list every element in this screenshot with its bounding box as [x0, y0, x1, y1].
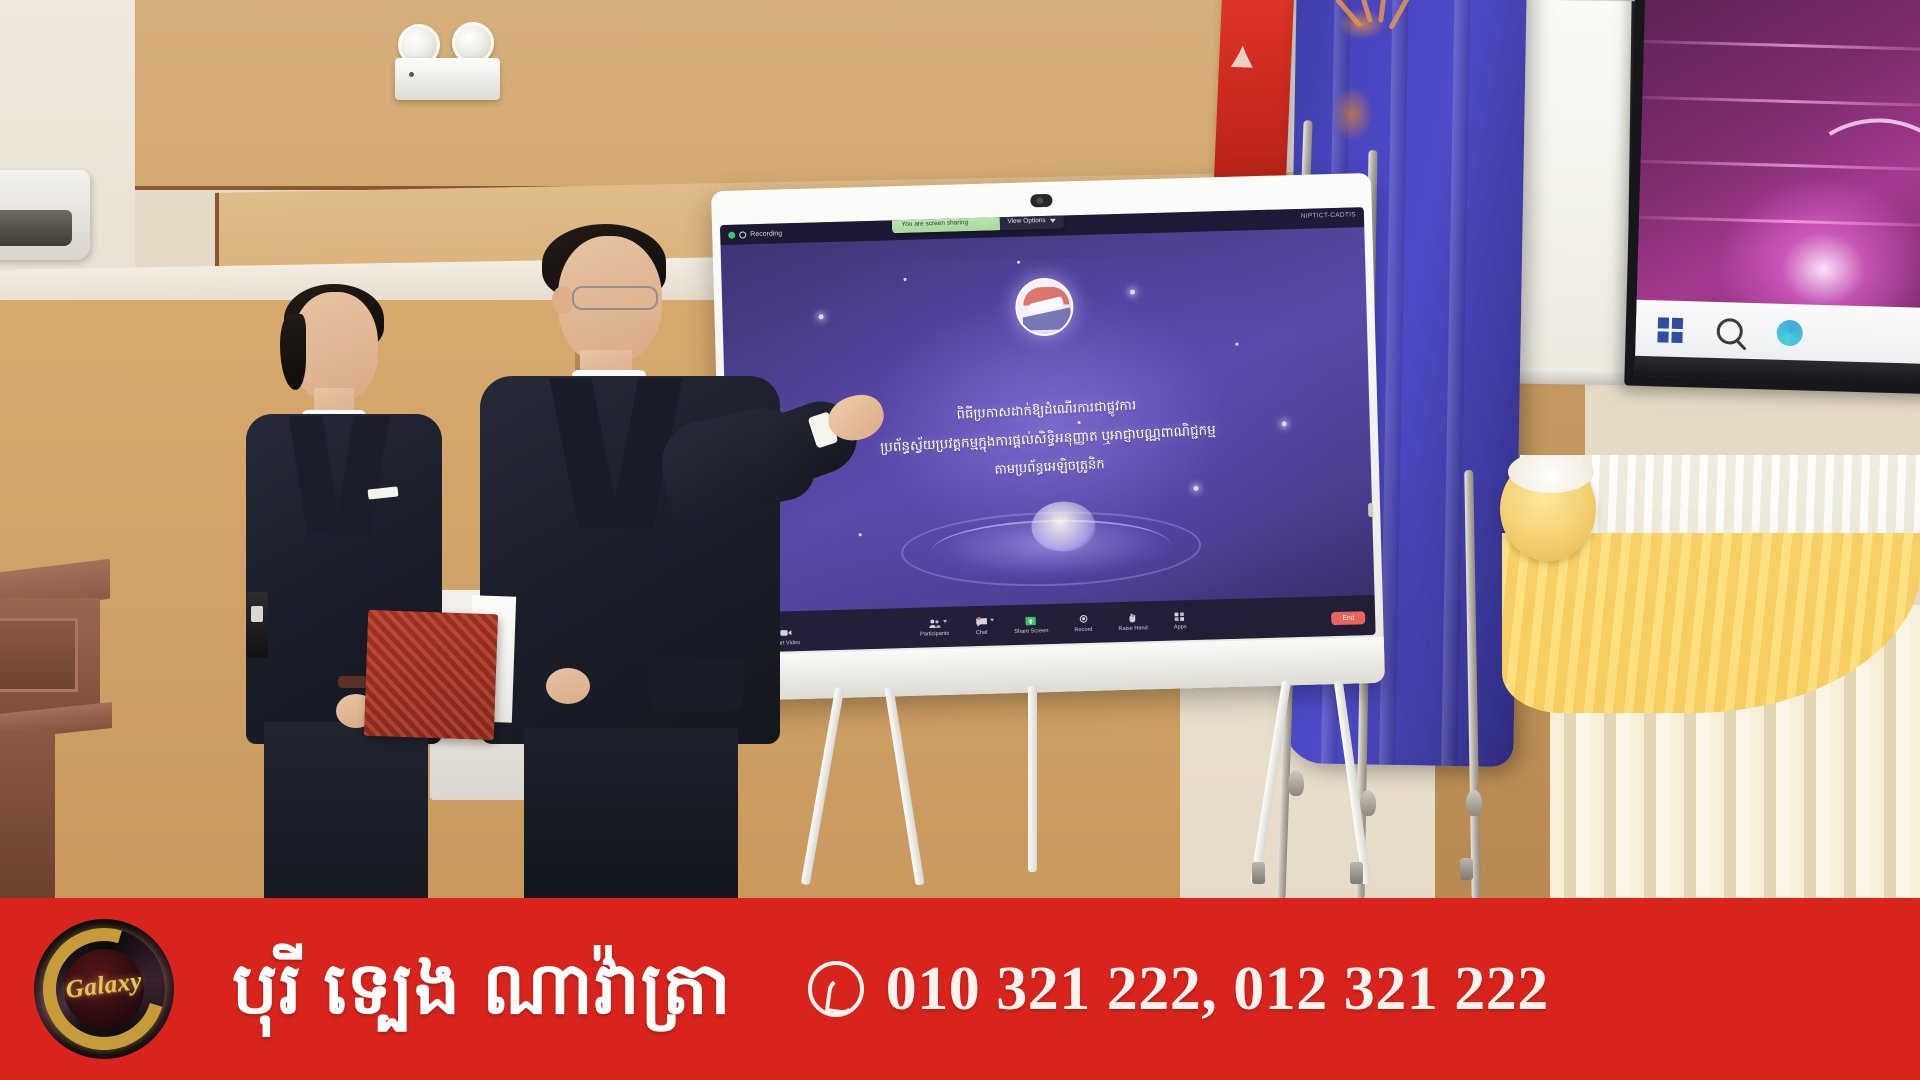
- drapery-rosette: [1500, 457, 1596, 561]
- handheld-radio: [246, 592, 268, 658]
- emergency-light-fixture: [395, 58, 500, 100]
- search-icon[interactable]: [1716, 318, 1743, 345]
- ear: [552, 286, 574, 314]
- webcam-icon: [1030, 194, 1052, 208]
- podium-panel: [0, 618, 78, 692]
- flag-finial-3: [1466, 790, 1482, 816]
- cambodia-flag-red: [1213, 0, 1294, 196]
- ceremonial-drapery: [1490, 455, 1920, 900]
- banner-phone-numbers: 010 321 222, 012 321 222: [886, 954, 1549, 1025]
- trousers: [524, 728, 738, 900]
- person-official: [480, 228, 800, 900]
- easel-center-post: [1028, 686, 1037, 872]
- apps-label: Apps: [1174, 624, 1187, 630]
- wristwatch: [338, 676, 368, 688]
- phone-circle-icon: [808, 961, 864, 1017]
- record-button[interactable]: Record: [1074, 613, 1093, 632]
- apps-button[interactable]: Apps: [1173, 611, 1187, 630]
- indicator-dot: [409, 72, 414, 77]
- chevron-down-icon: [1050, 218, 1056, 222]
- edge-icon[interactable]: [1776, 320, 1803, 347]
- wallpaper-arc: [1763, 99, 1920, 328]
- end-button[interactable]: End: [1331, 611, 1365, 625]
- chat-label: Chat: [976, 629, 988, 635]
- jacket-flap: [648, 658, 744, 712]
- wall-air-conditioner-icon: [0, 170, 90, 260]
- ceremonial-folder: [364, 610, 498, 740]
- end-meeting-area[interactable]: End: [1331, 606, 1365, 625]
- view-options-label: View Options: [1007, 217, 1045, 225]
- zoom-brand-label: NIPTICT-CADTIS: [1301, 211, 1356, 220]
- screenshot-root: Recording NIPTICT-CADTIS You are screen …: [0, 0, 1920, 1080]
- easel-caster-2: [1350, 862, 1363, 884]
- participants-icon: [928, 618, 941, 629]
- side-monitor: [1624, 0, 1920, 394]
- ac-vent: [0, 210, 72, 246]
- wall-panel-upper: [130, 0, 1250, 190]
- raise-hand-button[interactable]: Raise Hand: [1118, 612, 1148, 632]
- flag-finial-2: [1360, 790, 1376, 816]
- easel-caster-1: [1252, 862, 1265, 884]
- hair-side: [280, 314, 306, 390]
- chat-icon: [975, 616, 988, 627]
- trousers: [264, 722, 428, 900]
- chat-button[interactable]: Chat: [975, 616, 989, 635]
- event-photograph: Recording NIPTICT-CADTIS You are screen …: [0, 0, 1920, 900]
- raise-hand-icon: [1126, 612, 1139, 623]
- left-hand: [546, 668, 590, 704]
- podium-column: [0, 730, 55, 900]
- share-status-label: You are screen sharing: [891, 213, 999, 233]
- advertising-banner: Galaxy បុរី ទ្បេង ណាវ៉ាត្រា 010 321 222,…: [0, 898, 1920, 1080]
- banner-contact: 010 321 222, 012 321 222: [808, 954, 1549, 1025]
- flag-finial-1: [1288, 770, 1304, 796]
- record-icon: [1077, 613, 1090, 624]
- board-side-button[interactable]: [1368, 503, 1373, 517]
- participants-label: Participants: [920, 630, 949, 637]
- apps-icon: [1173, 611, 1186, 622]
- share-screen-button[interactable]: Share Screen: [1014, 615, 1049, 635]
- national-emblem-icon: [1015, 277, 1075, 337]
- banner-khmer-title: បុរី ទ្បេង ណាវ៉ាត្រា: [232, 953, 732, 1025]
- share-screen-label: Share Screen: [1014, 628, 1048, 635]
- share-screen-icon: [1024, 615, 1037, 626]
- person-assistant: [240, 292, 450, 900]
- view-options-button[interactable]: View Options: [999, 211, 1064, 230]
- participants-button[interactable]: Participants: [920, 617, 950, 637]
- raise-hand-label: Raise Hand: [1118, 625, 1147, 632]
- record-label: Record: [1074, 626, 1092, 633]
- easel-caster-3: [1460, 858, 1473, 880]
- eyeglasses-icon: [572, 286, 658, 310]
- angkor-wat-emblem-icon: [1231, 45, 1254, 68]
- windows-start-icon[interactable]: [1657, 317, 1683, 343]
- galaxy-logo: Galaxy: [34, 919, 174, 1059]
